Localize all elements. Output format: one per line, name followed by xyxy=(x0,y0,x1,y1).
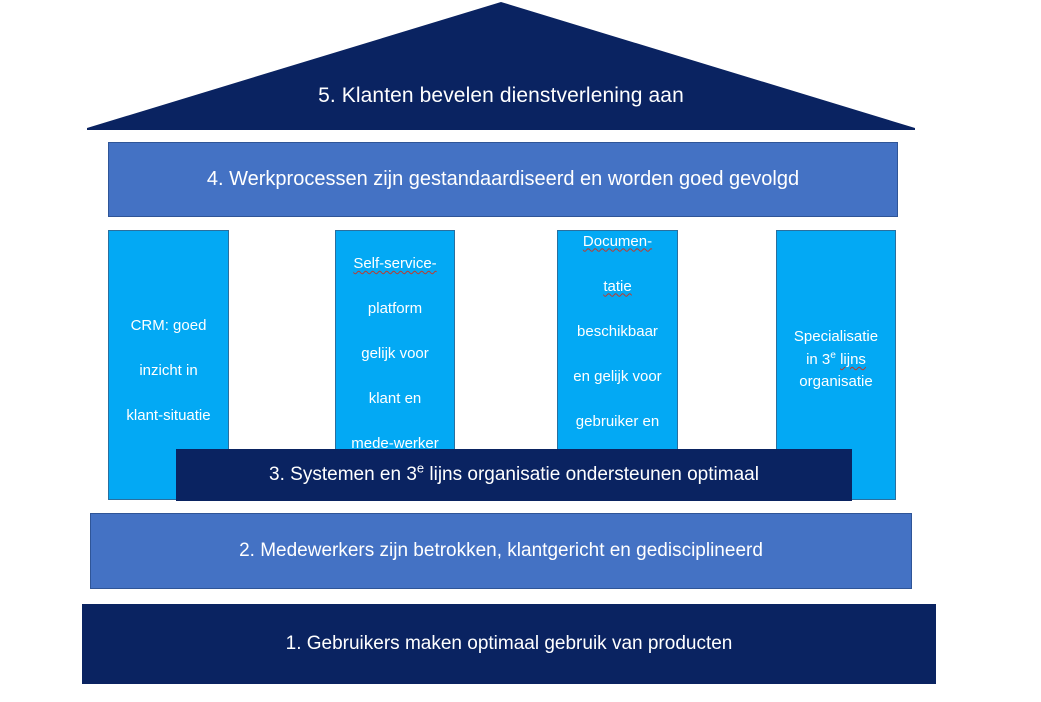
bar-werkprocessen-label: 4. Werkprocessen zijn gestandaardiseerd … xyxy=(207,167,799,192)
bar-medewerkers[interactable]: 2. Medewerkers zijn betrokken, klantgeri… xyxy=(90,513,912,589)
bar-gebruikers-label: 1. Gebruikers maken optimaal gebruik van… xyxy=(286,632,733,656)
pillar-self-service-label: Self-service- platform gelijk voor klant… xyxy=(345,231,445,456)
roof-shape[interactable]: 5. Klanten bevelen dienstverlening aan xyxy=(87,0,915,130)
bar-medewerkers-label: 2. Medewerkers zijn betrokken, klantgeri… xyxy=(239,539,763,563)
bar-werkprocessen[interactable]: 4. Werkprocessen zijn gestandaardiseerd … xyxy=(108,142,898,217)
house-model-diagram: 5. Klanten bevelen dienstverlening aan 4… xyxy=(0,0,1041,702)
bar-systemen[interactable]: 3. Systemen en 3e lijns organisatie onde… xyxy=(176,449,852,501)
pillar-documentatie-label: Documen- tatie beschikbaar en gelijk voo… xyxy=(567,208,667,478)
pillar-specialisatie-label: Specialisatie in 3e lijns organisatie xyxy=(788,326,884,394)
bar-gebruikers[interactable]: 1. Gebruikers maken optimaal gebruik van… xyxy=(82,604,936,684)
pillar-crm-label: CRM: goed inzicht in klant-situatie xyxy=(120,293,216,428)
bar-systemen-label: 3. Systemen en 3e lijns organisatie onde… xyxy=(269,463,759,487)
